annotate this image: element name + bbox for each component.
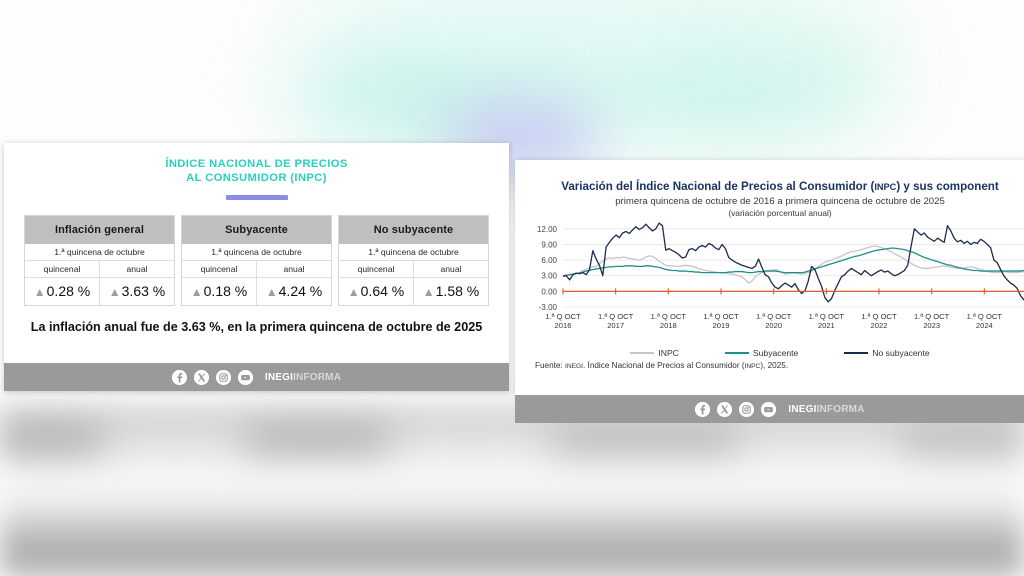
chart-title: Variación del Índice Nacional de Precios… xyxy=(533,180,1024,193)
legend-label-no-subyacente: No subyacente xyxy=(872,348,929,358)
metric-col-header-quincenal: quincenal xyxy=(182,261,256,277)
svg-text:2023: 2023 xyxy=(923,321,940,330)
card-title-line-1: ÍNDICE NACIONAL DE PRECIOS xyxy=(4,157,509,171)
chart-series-lines xyxy=(563,223,1024,302)
svg-text:1.ª Q OCT: 1.ª Q OCT xyxy=(545,312,581,321)
metric-value-text: 3.63 % xyxy=(122,283,166,299)
metric-values: ▲0.64 % ▲1.58 % xyxy=(339,278,488,305)
card-title-line-2: AL CONSUMIDOR (INPC) xyxy=(4,171,509,185)
svg-text:1.ª Q OCT: 1.ª Q OCT xyxy=(703,312,739,321)
svg-text:2024: 2024 xyxy=(976,321,993,330)
legend-label-inpc: INPC xyxy=(658,348,679,358)
facebook-icon[interactable] xyxy=(172,370,187,385)
headline-statement: La inflación anual fue de 3.63 %, en la … xyxy=(16,320,497,334)
source-acronym-inpc: INPC xyxy=(745,363,761,370)
legend-item-subyacente[interactable]: Subyacente xyxy=(725,348,798,358)
metric-card-inflacion-general: Inflación general 1.ª quincena de octubr… xyxy=(24,215,175,306)
source-middle: . Índice Nacional de Precios al Consumid… xyxy=(583,361,745,370)
chart-plot-area: -3.000.003.006.009.0012.00 1.ª Q OCT2016… xyxy=(515,215,1024,335)
svg-text:2020: 2020 xyxy=(765,321,782,330)
metric-title: Subyacente xyxy=(182,216,331,244)
metric-value-text: 1.58 % xyxy=(436,283,480,299)
metric-value-text: 4.24 % xyxy=(279,283,323,299)
inpc-chart-card: Variación del Índice Nacional de Precios… xyxy=(515,160,1024,395)
svg-text:0.00: 0.00 xyxy=(541,287,557,296)
trend-up-icon: ▲ xyxy=(423,285,435,299)
svg-text:-3.00: -3.00 xyxy=(539,303,558,312)
source-prefix: Fuente: xyxy=(535,361,565,370)
chart-svg: -3.000.003.006.009.0012.00 1.ª Q OCT2016… xyxy=(515,215,1024,335)
source-acronym-inegi: INEGI xyxy=(565,363,583,370)
trend-up-icon: ▲ xyxy=(348,285,360,299)
svg-text:9.00: 9.00 xyxy=(541,240,557,249)
title-divider-rule xyxy=(226,195,288,200)
metric-card-no-subyacente: No subyacente 1.ª quincena de octubre qu… xyxy=(338,215,489,306)
brand-bold: INEGI xyxy=(788,404,816,415)
svg-text:2017: 2017 xyxy=(607,321,624,330)
trend-up-icon: ▲ xyxy=(266,285,278,299)
metric-value-anual: ▲1.58 % xyxy=(413,278,488,305)
svg-text:1.ª Q OCT: 1.ª Q OCT xyxy=(861,312,897,321)
chart-title-part-b: ) y sus component xyxy=(896,180,998,193)
legend-swatch-no-subyacente xyxy=(844,352,868,354)
metric-value-text: 0.28 % xyxy=(47,283,91,299)
chart-x-axis-labels: 1.ª Q OCT20161.ª Q OCT20171.ª Q OCT20181… xyxy=(545,312,1024,330)
inpc-summary-card: ÍNDICE NACIONAL DE PRECIOS AL CONSUMIDOR… xyxy=(4,143,509,391)
metric-values: ▲0.28 % ▲3.63 % xyxy=(25,278,174,305)
source-suffix: ), 2025. xyxy=(760,361,788,370)
metric-col-header-anual: anual xyxy=(99,261,174,277)
metric-column-headers: quincenal anual xyxy=(339,261,488,278)
chart-y-axis-labels: -3.000.003.006.009.0012.00 xyxy=(537,225,558,312)
chart-zero-axis-line xyxy=(563,288,1024,294)
metric-col-header-quincenal: quincenal xyxy=(25,261,99,277)
legend-item-no-subyacente[interactable]: No subyacente xyxy=(844,348,929,358)
legend-item-inpc[interactable]: INPC xyxy=(630,348,679,358)
svg-text:1.ª Q OCT: 1.ª Q OCT xyxy=(598,312,634,321)
brand-bold: INEGI xyxy=(265,372,293,383)
brand-inegi-informa: INEGIINFORMA xyxy=(265,372,341,383)
metric-values: ▲0.18 % ▲4.24 % xyxy=(182,278,331,305)
x-twitter-icon[interactable] xyxy=(194,370,209,385)
metric-col-header-quincenal: quincenal xyxy=(339,261,413,277)
metric-period: 1.ª quincena de octubre xyxy=(182,244,331,261)
chart-source-note: Fuente: INEGI. Índice Nacional de Precio… xyxy=(535,361,788,370)
chart-title-part-a: Variación del Índice Nacional de Precios… xyxy=(561,180,874,193)
svg-text:6.00: 6.00 xyxy=(541,256,557,265)
metric-title: Inflación general xyxy=(25,216,174,244)
svg-text:2022: 2022 xyxy=(871,321,888,330)
metric-card-subyacente: Subyacente 1.ª quincena de octubre quinc… xyxy=(181,215,332,306)
legend-swatch-inpc xyxy=(630,352,654,354)
background-bottom-smudge xyxy=(0,420,1024,460)
footer-bar-left: INEGIINFORMA xyxy=(4,363,509,391)
chart-legend: INPC Subyacente No subyacente xyxy=(515,348,1024,358)
svg-text:1.ª Q OCT: 1.ª Q OCT xyxy=(756,312,792,321)
metric-value-anual: ▲3.63 % xyxy=(99,278,174,305)
trend-up-icon: ▲ xyxy=(191,285,203,299)
x-twitter-icon[interactable] xyxy=(717,402,732,417)
card-title: ÍNDICE NACIONAL DE PRECIOS AL CONSUMIDOR… xyxy=(4,157,509,185)
metrics-row: Inflación general 1.ª quincena de octubr… xyxy=(24,215,489,306)
metric-value-text: 0.18 % xyxy=(204,283,248,299)
brand-inegi-informa: INEGIINFORMA xyxy=(788,404,864,415)
svg-text:1.ª Q OCT: 1.ª Q OCT xyxy=(967,312,1003,321)
trend-up-icon: ▲ xyxy=(34,285,46,299)
footer-bar-right: INEGIINFORMA xyxy=(515,395,1024,423)
metric-col-header-anual: anual xyxy=(256,261,331,277)
svg-text:2019: 2019 xyxy=(713,321,730,330)
metric-value-text: 0.64 % xyxy=(361,283,405,299)
svg-text:2018: 2018 xyxy=(660,321,677,330)
svg-text:2021: 2021 xyxy=(818,321,835,330)
legend-label-subyacente: Subyacente xyxy=(753,348,798,358)
svg-text:3.00: 3.00 xyxy=(541,272,557,281)
metric-value-quincenal: ▲0.28 % xyxy=(25,278,99,305)
svg-text:2016: 2016 xyxy=(555,321,572,330)
svg-text:1.ª Q OCT: 1.ª Q OCT xyxy=(914,312,950,321)
svg-text:12.00: 12.00 xyxy=(537,225,558,234)
legend-swatch-subyacente xyxy=(725,352,749,354)
metric-title: No subyacente xyxy=(339,216,488,244)
chart-title-acronym: INPC xyxy=(874,182,896,192)
metric-period: 1.ª quincena de octubre xyxy=(25,244,174,261)
youtube-icon[interactable] xyxy=(761,402,776,417)
metric-col-header-anual: anual xyxy=(413,261,488,277)
facebook-icon[interactable] xyxy=(695,402,710,417)
background-blob-white xyxy=(200,0,900,60)
chart-subtitle: primera quincena de octubre de 2016 a pr… xyxy=(515,196,1024,207)
brand-light: INFORMA xyxy=(293,372,341,383)
metric-value-quincenal: ▲0.18 % xyxy=(182,278,256,305)
instagram-icon[interactable] xyxy=(216,370,231,385)
youtube-icon[interactable] xyxy=(238,370,253,385)
metric-value-anual: ▲4.24 % xyxy=(256,278,331,305)
svg-text:1.ª Q OCT: 1.ª Q OCT xyxy=(651,312,687,321)
metric-column-headers: quincenal anual xyxy=(25,261,174,278)
instagram-icon[interactable] xyxy=(739,402,754,417)
brand-light: INFORMA xyxy=(817,404,865,415)
metric-period: 1.ª quincena de octubre xyxy=(339,244,488,261)
trend-up-icon: ▲ xyxy=(109,285,121,299)
svg-text:1.ª Q OCT: 1.ª Q OCT xyxy=(809,312,845,321)
metric-column-headers: quincenal anual xyxy=(182,261,331,278)
metric-value-quincenal: ▲0.64 % xyxy=(339,278,413,305)
